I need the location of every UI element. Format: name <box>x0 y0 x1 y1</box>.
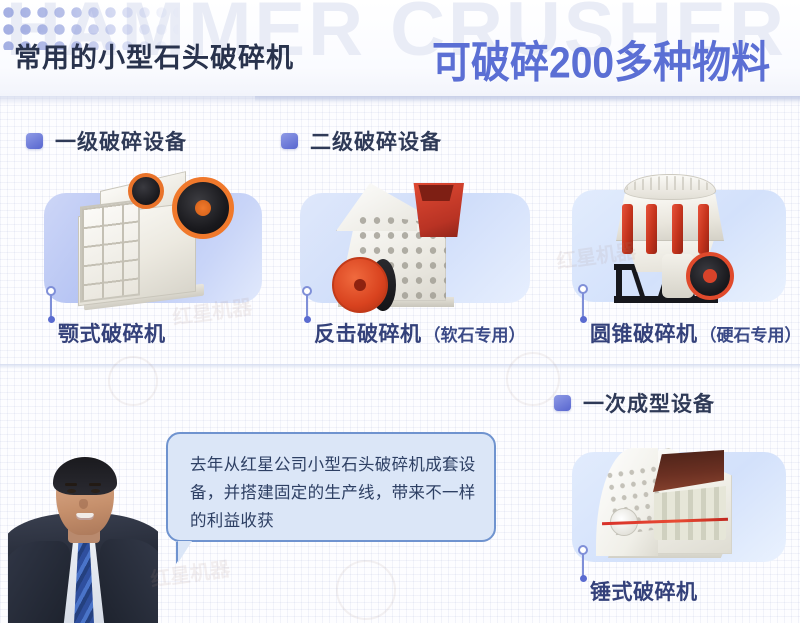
hydraulic-cylinder <box>672 204 683 254</box>
cone-crusher-illustration <box>566 160 786 312</box>
eyebrow-right <box>89 483 101 486</box>
cone-crusher-flywheel <box>686 252 734 300</box>
brand-watermark-ring <box>336 560 396 620</box>
testimonial-bubble: 去年从红星公司小型石头破碎机成套设备，并搭建固定的生产线，带来不一样的利益收获 <box>166 432 496 542</box>
section-label-text: 二级破碎设备 <box>310 126 442 156</box>
eye-left <box>67 489 76 493</box>
connector-dot-bottom <box>580 316 587 323</box>
product-caption-jaw-crusher: 颚式破碎机 <box>58 318 168 348</box>
eye-right <box>91 489 100 493</box>
testimonial-text: 去年从红星公司小型石头破碎机成套设备，并搭建固定的生产线，带来不一样的利益收获 <box>190 451 482 535</box>
page-title: 常用的小型石头破碎机 <box>14 36 294 75</box>
hammer-crusher-illustration <box>566 420 786 570</box>
impact-crusher-flywheel <box>332 257 388 313</box>
hydraulic-cylinder <box>698 204 709 254</box>
connector-dot-bottom <box>48 316 55 323</box>
bullet-square-icon <box>281 133 298 149</box>
brand-watermark-ring <box>506 352 560 406</box>
brand-watermark-text: 红星机器 <box>148 553 231 593</box>
nose <box>79 499 88 509</box>
eyebrow-left <box>65 483 77 486</box>
hydraulic-cylinder <box>646 204 657 254</box>
impact-crusher-hopper-opening <box>416 185 456 201</box>
hair <box>53 457 117 495</box>
product-caption-impact-crusher: 反击破碎机 （软石专用） <box>314 318 526 348</box>
product-caption-hammer-crusher: 锤式破碎机 <box>590 576 700 606</box>
product-name: 颚式破碎机 <box>58 318 166 348</box>
connector-dot-top <box>46 286 56 296</box>
suit-shoulder-left <box>8 541 70 623</box>
connector-dot-top <box>578 284 588 294</box>
jaw-crusher-illustration <box>40 163 260 311</box>
suit-shoulder-right <box>100 539 158 623</box>
connector-dot-bottom <box>580 575 587 582</box>
connector-dot-top <box>578 545 588 555</box>
customer-photo <box>8 455 158 623</box>
jaw-crusher-side-plate <box>80 199 140 302</box>
section-label-primary: 一级破碎设备 <box>26 126 187 156</box>
header-shadow-right <box>255 96 800 102</box>
product-name: 反击破碎机 <box>314 318 422 348</box>
impact-crusher-illustration <box>296 163 526 313</box>
bullet-square-icon <box>554 395 571 411</box>
section-label-secondary: 二级破碎设备 <box>281 126 442 156</box>
brand-watermark-ring <box>108 356 158 406</box>
connector-dot-top <box>302 286 312 296</box>
jaw-crusher-rear-flywheel <box>128 173 164 209</box>
header-highlight-text: 可破碎200多种物料 <box>432 28 770 91</box>
section-label-oneshot: 一次成型设备 <box>554 388 715 418</box>
connector-dot-bottom <box>304 316 311 323</box>
product-caption-cone-crusher: 圆锥破碎机 （硬石专用） <box>590 318 800 348</box>
hammer-crusher-grate-fins <box>654 486 726 540</box>
section-label-text: 一级破碎设备 <box>55 126 187 156</box>
infographic-page: HAMMER CRUSHER 常用的小型石头破碎机 可破碎200多种物料 一级破… <box>0 0 800 623</box>
bullet-square-icon <box>26 133 43 149</box>
product-name: 圆锥破碎机 <box>590 318 698 348</box>
jaw-crusher-flywheel <box>172 177 234 239</box>
header-banner: HAMMER CRUSHER 常用的小型石头破碎机 可破碎200多种物料 <box>0 0 800 96</box>
section-label-text: 一次成型设备 <box>583 388 715 418</box>
frame-leg-left <box>616 264 622 302</box>
product-note: （软石专用） <box>424 321 526 346</box>
product-name: 锤式破碎机 <box>590 576 698 606</box>
mouth <box>76 513 94 520</box>
product-note: （硬石专用） <box>700 321 800 346</box>
